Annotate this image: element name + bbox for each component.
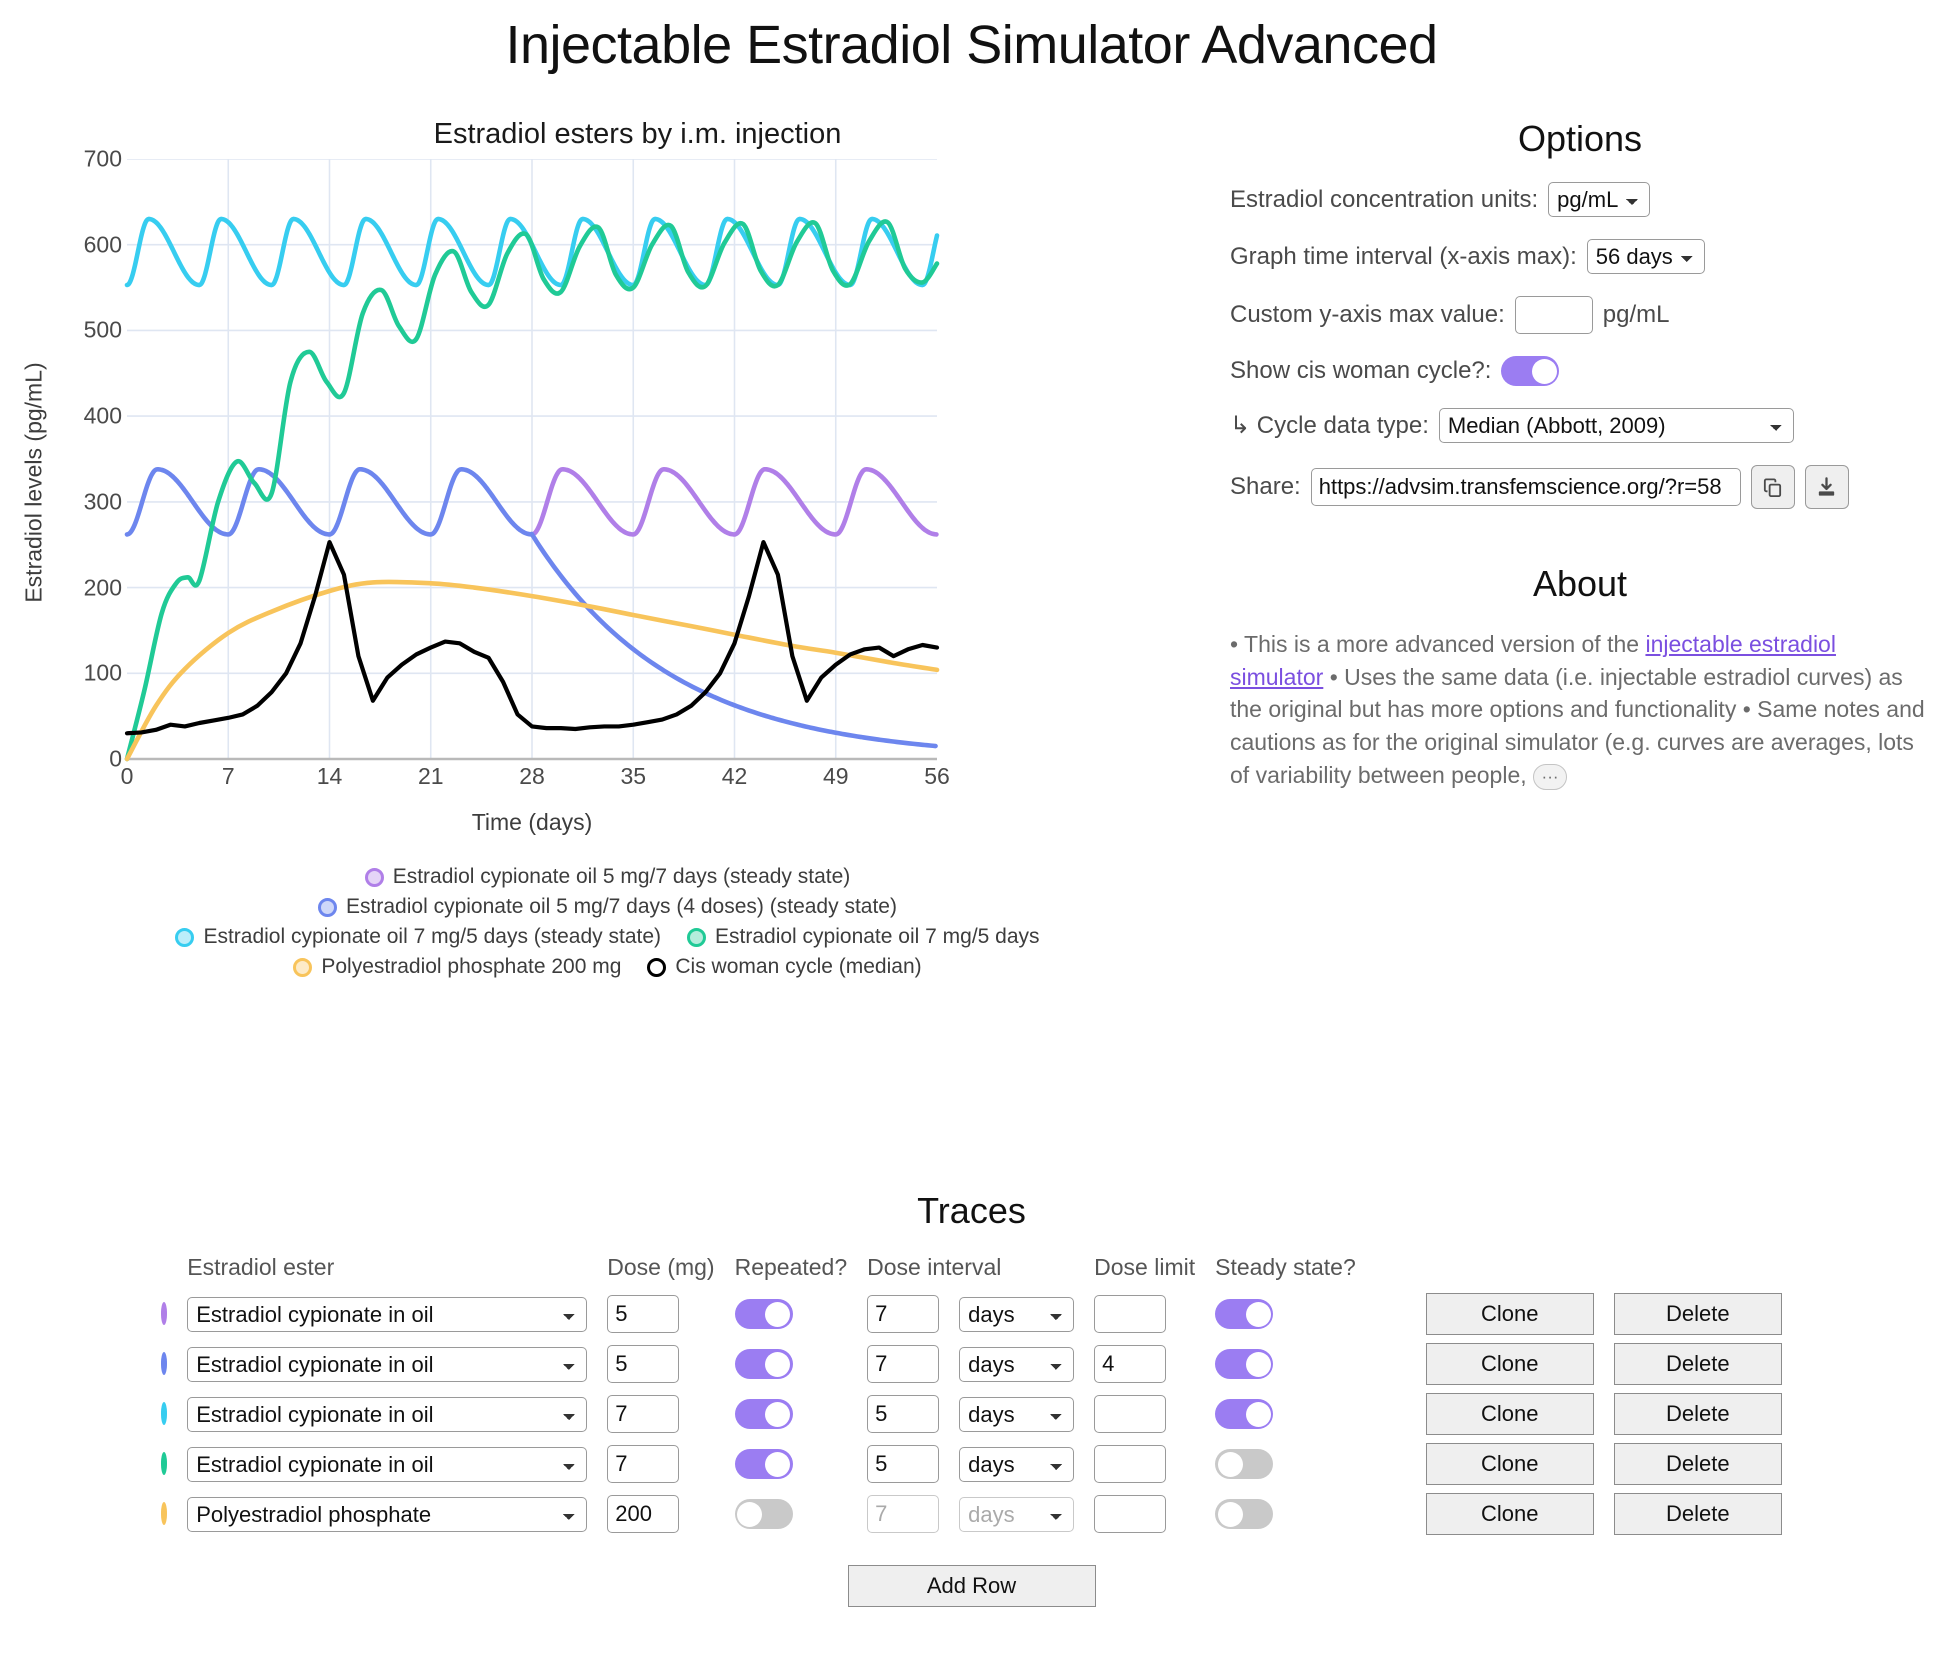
row-marker-cell bbox=[151, 1339, 177, 1389]
interval-unit-cell: days bbox=[949, 1339, 1084, 1389]
table-row: Estradiol cypionate in oildaysCloneDelet… bbox=[151, 1289, 1792, 1339]
ester-cell: Estradiol cypionate in oil bbox=[177, 1289, 597, 1339]
repeated-toggle[interactable] bbox=[735, 1499, 793, 1529]
app-root: Injectable Estradiol Simulator Advanced … bbox=[0, 0, 1943, 1679]
custom-ymax-unit: pg/mL bbox=[1603, 301, 1670, 329]
clone-button[interactable]: Clone bbox=[1426, 1493, 1594, 1535]
table-row: Polyestradiol phosphatedaysCloneDelete bbox=[151, 1489, 1792, 1539]
legend-label: Polyestradiol phosphate 200 mg bbox=[321, 955, 621, 979]
clone-cell: Clone bbox=[1366, 1439, 1604, 1489]
x-tick: 0 bbox=[121, 763, 134, 790]
units-select[interactable]: pg/mL bbox=[1548, 182, 1650, 217]
steady-state-toggle[interactable] bbox=[1215, 1499, 1273, 1529]
ester-cell: Estradiol cypionate in oil bbox=[177, 1339, 597, 1389]
ester-cell: Estradiol cypionate in oil bbox=[177, 1389, 597, 1439]
copy-icon bbox=[1761, 476, 1784, 499]
clone-cell: Clone bbox=[1366, 1489, 1604, 1539]
interval-value-cell bbox=[857, 1289, 949, 1339]
clone-cell: Clone bbox=[1366, 1339, 1604, 1389]
legend-item[interactable]: Estradiol cypionate oil 5 mg/7 days (ste… bbox=[365, 865, 851, 889]
interval-unit-cell: days bbox=[949, 1289, 1084, 1339]
x-tick: 21 bbox=[418, 763, 444, 790]
share-label: Share: bbox=[1230, 473, 1301, 501]
legend-marker-icon bbox=[318, 898, 337, 917]
steady-cell bbox=[1205, 1339, 1366, 1389]
interval-unit-cell: days bbox=[949, 1389, 1084, 1439]
dose-cell bbox=[597, 1389, 724, 1439]
repeated-cell bbox=[725, 1489, 858, 1539]
interval-value-cell bbox=[857, 1439, 949, 1489]
chart-legend: Estradiol cypionate oil 5 mg/7 days (ste… bbox=[0, 865, 1215, 979]
table-row: Estradiol cypionate in oildaysCloneDelet… bbox=[151, 1439, 1792, 1489]
legend-marker-icon bbox=[175, 928, 194, 947]
table-row: Estradiol cypionate in oildaysCloneDelet… bbox=[151, 1389, 1792, 1439]
ester-cell: Estradiol cypionate in oil bbox=[177, 1439, 597, 1489]
steady-state-toggle[interactable] bbox=[1215, 1299, 1273, 1329]
about-heading: About bbox=[1230, 563, 1930, 605]
chart-svg bbox=[0, 159, 1215, 859]
traces-heading: Traces bbox=[0, 1190, 1943, 1232]
steady-cell bbox=[1205, 1489, 1366, 1539]
x-tick: 28 bbox=[519, 763, 545, 790]
x-tick: 35 bbox=[620, 763, 646, 790]
copy-link-button[interactable] bbox=[1751, 465, 1795, 509]
legend-item[interactable]: Estradiol cypionate oil 5 mg/7 days (4 d… bbox=[318, 895, 897, 919]
x-axis-label: Time (days) bbox=[127, 809, 937, 836]
legend-item[interactable]: Estradiol cypionate oil 7 mg/5 days bbox=[687, 925, 1040, 949]
dose-interval-unit-select[interactable]: days bbox=[959, 1347, 1074, 1382]
x-tick: 42 bbox=[722, 763, 748, 790]
delete-button[interactable]: Delete bbox=[1614, 1493, 1782, 1535]
clone-cell: Clone bbox=[1366, 1389, 1604, 1439]
custom-ymax-input[interactable] bbox=[1515, 296, 1593, 334]
interval-unit-cell: days bbox=[949, 1489, 1084, 1539]
download-button[interactable] bbox=[1805, 465, 1849, 509]
row-marker-cell bbox=[151, 1439, 177, 1489]
delete-button[interactable]: Delete bbox=[1614, 1443, 1782, 1485]
delete-cell: Delete bbox=[1604, 1489, 1792, 1539]
x-tick: 56 bbox=[924, 763, 950, 790]
trace-color-icon bbox=[161, 1352, 167, 1375]
col-ester: Estradiol ester bbox=[177, 1254, 597, 1289]
steady-state-toggle[interactable] bbox=[1215, 1399, 1273, 1429]
steady-cell bbox=[1205, 1289, 1366, 1339]
dose-input[interactable] bbox=[607, 1395, 679, 1433]
download-icon bbox=[1815, 476, 1838, 499]
cycle-type-row: ↳ Cycle data type: Median (Abbott, 2009) bbox=[1230, 408, 1930, 443]
dose-input[interactable] bbox=[607, 1495, 679, 1533]
ester-cell: Polyestradiol phosphate bbox=[177, 1489, 597, 1539]
chart-panel: Estradiol esters by i.m. injection Estra… bbox=[0, 118, 1215, 985]
legend-label: Estradiol cypionate oil 7 mg/5 days (ste… bbox=[203, 925, 661, 949]
repeated-cell bbox=[725, 1289, 858, 1339]
steady-state-toggle[interactable] bbox=[1215, 1349, 1273, 1379]
show-cycle-label: Show cis woman cycle?: bbox=[1230, 357, 1491, 385]
col-actions2 bbox=[1604, 1254, 1792, 1289]
legend-item[interactable]: Polyestradiol phosphate 200 mg bbox=[293, 955, 621, 979]
traces-table: Estradiol ester Dose (mg) Repeated? Dose… bbox=[151, 1254, 1792, 1539]
units-row: Estradiol concentration units: pg/mL bbox=[1230, 182, 1930, 217]
dose-interval-input[interactable] bbox=[867, 1395, 939, 1433]
traces-header-row: Estradiol ester Dose (mg) Repeated? Dose… bbox=[151, 1254, 1792, 1289]
legend-label: Estradiol cypionate oil 5 mg/7 days (4 d… bbox=[346, 895, 897, 919]
limit-cell bbox=[1084, 1389, 1205, 1439]
delete-cell: Delete bbox=[1604, 1389, 1792, 1439]
options-heading: Options bbox=[1230, 118, 1930, 160]
legend-row: Polyestradiol phosphate 200 mgCis woman … bbox=[0, 955, 1215, 979]
repeated-toggle[interactable] bbox=[735, 1349, 793, 1379]
clone-button[interactable]: Clone bbox=[1426, 1343, 1594, 1385]
interval-value-cell bbox=[857, 1339, 949, 1389]
dose-cell bbox=[597, 1439, 724, 1489]
traces-panel: Traces Estradiol ester Dose (mg) Repeate… bbox=[0, 1190, 1943, 1607]
legend-marker-icon bbox=[687, 928, 706, 947]
col-repeated: Repeated? bbox=[725, 1254, 858, 1289]
legend-row: Estradiol cypionate oil 5 mg/7 days (ste… bbox=[0, 865, 1215, 889]
ester-select[interactable]: Polyestradiol phosphate bbox=[187, 1497, 587, 1532]
dose-interval-input[interactable] bbox=[867, 1295, 939, 1333]
legend-label: Cis woman cycle (median) bbox=[675, 955, 921, 979]
cycle-type-label: ↳ Cycle data type: bbox=[1230, 411, 1429, 440]
limit-cell bbox=[1084, 1439, 1205, 1489]
share-url-input[interactable] bbox=[1311, 468, 1741, 506]
repeated-toggle[interactable] bbox=[735, 1299, 793, 1329]
custom-ymax-label: Custom y-axis max value: bbox=[1230, 301, 1505, 329]
ester-select[interactable]: Estradiol cypionate in oil bbox=[187, 1397, 587, 1432]
dose-interval-unit-select[interactable]: days bbox=[959, 1297, 1074, 1332]
share-row: Share: bbox=[1230, 465, 1930, 509]
row-marker-cell bbox=[151, 1489, 177, 1539]
dose-interval-unit-select[interactable]: days bbox=[959, 1497, 1074, 1532]
steady-cell bbox=[1205, 1439, 1366, 1489]
col-actions bbox=[1366, 1254, 1604, 1289]
clone-button[interactable]: Clone bbox=[1426, 1293, 1594, 1335]
legend-marker-icon bbox=[647, 958, 666, 977]
interval-value-cell bbox=[857, 1489, 949, 1539]
trace-color-icon bbox=[161, 1402, 167, 1425]
dose-interval-unit-select[interactable]: days bbox=[959, 1397, 1074, 1432]
trace-color-icon bbox=[161, 1302, 167, 1325]
legend-item[interactable]: Cis woman cycle (median) bbox=[647, 955, 921, 979]
chart-title: Estradiol esters by i.m. injection bbox=[0, 118, 1215, 151]
ester-select[interactable]: Estradiol cypionate in oil bbox=[187, 1447, 587, 1482]
dose-cell bbox=[597, 1289, 724, 1339]
dose-interval-unit-select[interactable]: days bbox=[959, 1447, 1074, 1482]
col-steady-state: Steady state? bbox=[1205, 1254, 1366, 1289]
repeated-toggle[interactable] bbox=[735, 1399, 793, 1429]
dose-cell bbox=[597, 1339, 724, 1389]
time-interval-label: Graph time interval (x-axis max): bbox=[1230, 243, 1577, 271]
options-panel: Options Estradiol concentration units: p… bbox=[1230, 118, 1930, 814]
clone-cell: Clone bbox=[1366, 1289, 1604, 1339]
legend-marker-icon bbox=[365, 868, 384, 887]
legend-label: Estradiol cypionate oil 7 mg/5 days bbox=[715, 925, 1040, 949]
dose-limit-input[interactable] bbox=[1094, 1495, 1166, 1533]
table-row: Estradiol cypionate in oildaysCloneDelet… bbox=[151, 1339, 1792, 1389]
add-row-wrap: Add Row bbox=[0, 1565, 1943, 1607]
clone-button[interactable]: Clone bbox=[1426, 1393, 1594, 1435]
traces-body: Estradiol cypionate in oildaysCloneDelet… bbox=[151, 1289, 1792, 1539]
steady-cell bbox=[1205, 1389, 1366, 1439]
page-title: Injectable Estradiol Simulator Advanced bbox=[0, 0, 1943, 76]
plot-area: Estradiol levels (pg/mL) 0 100 200 300 4… bbox=[0, 159, 1215, 859]
x-tick: 49 bbox=[823, 763, 849, 790]
show-cycle-toggle[interactable] bbox=[1501, 356, 1559, 386]
row-marker-cell bbox=[151, 1389, 177, 1439]
ester-select[interactable]: Estradiol cypionate in oil bbox=[187, 1297, 587, 1332]
about-post: • Uses the same data (i.e. injectable es… bbox=[1230, 664, 1925, 788]
interval-unit-cell: days bbox=[949, 1439, 1084, 1489]
dose-cell bbox=[597, 1489, 724, 1539]
about-pre: • This is a more advanced version of the bbox=[1230, 631, 1645, 657]
limit-cell bbox=[1084, 1489, 1205, 1539]
legend-row: Estradiol cypionate oil 5 mg/7 days (4 d… bbox=[0, 895, 1215, 919]
repeated-cell bbox=[725, 1439, 858, 1489]
x-tick: 14 bbox=[317, 763, 343, 790]
dose-limit-input[interactable] bbox=[1094, 1445, 1166, 1483]
col-dose-limit: Dose limit bbox=[1084, 1254, 1205, 1289]
repeated-cell bbox=[725, 1389, 858, 1439]
legend-item[interactable]: Estradiol cypionate oil 7 mg/5 days (ste… bbox=[175, 925, 661, 949]
about-text: • This is a more advanced version of the… bbox=[1230, 628, 1930, 791]
dose-limit-input[interactable] bbox=[1094, 1295, 1166, 1333]
steady-state-toggle[interactable] bbox=[1215, 1449, 1273, 1479]
dose-limit-input[interactable] bbox=[1094, 1345, 1166, 1383]
row-marker-cell bbox=[151, 1289, 177, 1339]
delete-cell: Delete bbox=[1604, 1439, 1792, 1489]
trace-color-icon bbox=[161, 1502, 167, 1525]
trace-color-icon bbox=[161, 1452, 167, 1475]
clone-button[interactable]: Clone bbox=[1426, 1443, 1594, 1485]
show-cycle-row: Show cis woman cycle?: bbox=[1230, 356, 1930, 386]
legend-label: Estradiol cypionate oil 5 mg/7 days (ste… bbox=[393, 865, 851, 889]
repeated-toggle[interactable] bbox=[735, 1449, 793, 1479]
legend-marker-icon bbox=[293, 958, 312, 977]
delete-button[interactable]: Delete bbox=[1614, 1393, 1782, 1435]
cycle-type-select[interactable]: Median (Abbott, 2009) bbox=[1439, 408, 1794, 443]
limit-cell bbox=[1084, 1339, 1205, 1389]
add-row-button[interactable]: Add Row bbox=[848, 1565, 1096, 1607]
col-dose-interval: Dose interval bbox=[857, 1254, 1084, 1289]
legend-row: Estradiol cypionate oil 7 mg/5 days (ste… bbox=[0, 925, 1215, 949]
time-interval-select[interactable]: 56 days bbox=[1587, 239, 1705, 274]
ester-select[interactable]: Estradiol cypionate in oil bbox=[187, 1347, 587, 1382]
dose-input[interactable] bbox=[607, 1445, 679, 1483]
col-marker bbox=[151, 1254, 177, 1289]
x-tick: 7 bbox=[222, 763, 235, 790]
delete-button[interactable]: Delete bbox=[1614, 1343, 1782, 1385]
dose-limit-input[interactable] bbox=[1094, 1395, 1166, 1433]
dose-interval-input[interactable] bbox=[867, 1445, 939, 1483]
delete-button[interactable]: Delete bbox=[1614, 1293, 1782, 1335]
time-interval-row: Graph time interval (x-axis max): 56 day… bbox=[1230, 239, 1930, 274]
custom-ymax-row: Custom y-axis max value: pg/mL bbox=[1230, 296, 1930, 334]
repeated-cell bbox=[725, 1339, 858, 1389]
dose-input[interactable] bbox=[607, 1345, 679, 1383]
dose-input[interactable] bbox=[607, 1295, 679, 1333]
dose-interval-input[interactable] bbox=[867, 1345, 939, 1383]
delete-cell: Delete bbox=[1604, 1289, 1792, 1339]
about-expand-button[interactable]: ··· bbox=[1533, 764, 1567, 790]
delete-cell: Delete bbox=[1604, 1339, 1792, 1389]
units-label: Estradiol concentration units: bbox=[1230, 186, 1538, 214]
dose-interval-input[interactable] bbox=[867, 1495, 939, 1533]
col-dose: Dose (mg) bbox=[597, 1254, 724, 1289]
limit-cell bbox=[1084, 1289, 1205, 1339]
interval-value-cell bbox=[857, 1389, 949, 1439]
